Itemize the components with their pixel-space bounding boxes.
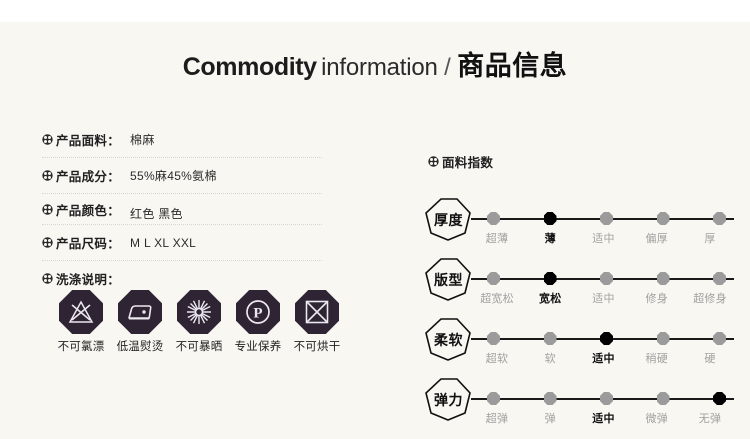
scale-option: 稍硬: [633, 350, 681, 366]
wash-item-caption: 不可氯漂: [55, 338, 107, 354]
scale-row: 柔软 超软 软 适中 稍硬 硬: [424, 314, 734, 374]
wash-item-caption: 不可暴晒: [173, 338, 225, 354]
spec-row: 产品尺码： M L XL XXL: [42, 225, 322, 261]
scale-dot[interactable]: [544, 332, 557, 345]
scale-dot[interactable]: [544, 392, 557, 405]
scale-name: 弹力: [434, 390, 463, 410]
no-tumble-dry-icon: [295, 290, 339, 334]
spec-label: 产品成分：: [56, 166, 120, 185]
scale-row: 弹力 超弹 弹 适中 微弹 无弹: [424, 374, 734, 434]
scale-dot[interactable]: [600, 212, 613, 225]
wash-item: 不可氯漂: [55, 290, 107, 354]
scale-name-badge: 柔软: [424, 317, 473, 362]
scale-dot[interactable]: [713, 272, 726, 285]
scale-labels: 超弹 弹 适中 微弹 无弹: [471, 410, 734, 426]
scale-option: 无弹: [686, 410, 734, 426]
scale-labels: 超软 软 适中 稍硬 硬: [471, 350, 734, 366]
scale-option: 超薄: [473, 230, 521, 246]
scale-option: 超宽松: [473, 290, 521, 306]
scale-option-selected: 宽松: [526, 290, 574, 306]
scale-dot[interactable]: [487, 212, 500, 225]
spec-value: M L XL XXL: [130, 236, 196, 250]
spec-label: 产品面料：: [56, 130, 120, 149]
scale-dot-selected[interactable]: [600, 332, 613, 345]
wash-item-caption: 低温熨烫: [114, 338, 166, 354]
product-spec-list: 产品面料： 棉麻 产品成分： 55%麻45%氨棉: [42, 122, 322, 261]
scale-dot[interactable]: [487, 272, 500, 285]
scale-dot[interactable]: [487, 392, 500, 405]
wash-item: 低温熨烫: [114, 290, 166, 354]
page-title-cn: 商品信息: [457, 51, 567, 81]
scale-dot[interactable]: [713, 212, 726, 225]
scale-name: 版型: [434, 270, 463, 290]
scale-dots: [471, 272, 734, 286]
scale-option: 硬: [686, 350, 734, 366]
clover-bullet-icon: [42, 204, 53, 215]
spec-label: 产品尺码：: [56, 233, 120, 252]
spec-value: 棉麻: [130, 131, 155, 148]
clover-bullet-icon: [42, 170, 53, 181]
wash-item-caption: 不可烘干: [291, 338, 343, 354]
scale-option: 厚: [686, 230, 734, 246]
spec-row: 产品面料： 棉麻: [42, 122, 322, 158]
clover-bullet-icon: [42, 273, 53, 284]
spec-row: 产品颜色： 红色 黑色: [42, 194, 322, 225]
scale-dot-selected[interactable]: [713, 392, 726, 405]
spec-value: 红色 黑色: [130, 205, 183, 224]
page-title-light: information: [321, 54, 438, 81]
low-heat-iron-icon: [118, 290, 162, 334]
scale-option: 修身: [633, 290, 681, 306]
scale-option: 偏厚: [633, 230, 681, 246]
professional-care-icon: P: [236, 290, 280, 334]
scale-dot[interactable]: [657, 392, 670, 405]
wash-item: P 专业保养: [232, 290, 284, 354]
commodity-info-panel: Commodity information / 商品信息 产品面料： 棉麻: [0, 22, 750, 439]
spec-value: 55%麻45%氨棉: [130, 167, 217, 184]
wash-item: 不可暴晒: [173, 290, 225, 354]
scale-name: 厚度: [434, 210, 463, 230]
wash-instructions-heading: 洗涤说明：: [42, 269, 120, 288]
scale-name-badge: 弹力: [424, 377, 473, 422]
scale-dot[interactable]: [657, 272, 670, 285]
scale-option: 弹: [526, 410, 574, 426]
scale-option: 微弹: [633, 410, 681, 426]
scale-dots: [471, 212, 734, 226]
scale-dot-selected[interactable]: [544, 212, 557, 225]
svg-text:P: P: [253, 305, 262, 321]
no-bleach-icon: [59, 290, 103, 334]
page-title-separator: /: [442, 54, 453, 81]
fabric-index-scales: 厚度 超薄 薄 适中 偏厚 厚: [424, 194, 734, 434]
scale-labels: 超宽松 宽松 适中 修身 超修身: [471, 290, 734, 306]
scale-labels: 超薄 薄 适中 偏厚 厚: [471, 230, 734, 246]
scale-option-selected: 适中: [580, 410, 628, 426]
wash-item-caption: 专业保养: [232, 338, 284, 354]
clover-bullet-icon: [42, 237, 53, 248]
scale-dot[interactable]: [657, 332, 670, 345]
clover-bullet-icon: [428, 156, 439, 167]
scale-dot-selected[interactable]: [544, 272, 557, 285]
spec-label: 产品颜色：: [56, 200, 120, 219]
spec-row: 产品成分： 55%麻45%氨棉: [42, 158, 322, 194]
scale-name-badge: 厚度: [424, 197, 473, 242]
clover-bullet-icon: [42, 134, 53, 145]
scale-dot[interactable]: [657, 212, 670, 225]
scale-dot[interactable]: [713, 332, 726, 345]
scale-option: 超软: [473, 350, 521, 366]
page-title: Commodity information / 商品信息: [0, 44, 750, 83]
wash-item: 不可烘干: [291, 290, 343, 354]
scale-option: 超修身: [686, 290, 734, 306]
fabric-index-label: 面料指数: [442, 152, 493, 171]
scale-row: 厚度 超薄 薄 适中 偏厚 厚: [424, 194, 734, 254]
scale-option: 适中: [580, 230, 628, 246]
scale-dot[interactable]: [487, 332, 500, 345]
scale-row: 版型 超宽松 宽松 适中 修身 超修身: [424, 254, 734, 314]
scale-option: 超弹: [473, 410, 521, 426]
scale-option-selected: 适中: [580, 350, 628, 366]
scale-name-badge: 版型: [424, 257, 473, 302]
scale-name: 柔软: [434, 330, 463, 350]
scale-dots: [471, 392, 734, 406]
wash-instructions-label: 洗涤说明：: [56, 269, 120, 288]
scale-dots: [471, 332, 734, 346]
scale-option: 适中: [580, 290, 628, 306]
fabric-index-heading: 面料指数: [428, 152, 493, 171]
scale-option-selected: 薄: [526, 230, 574, 246]
no-sun-dry-icon: [177, 290, 221, 334]
wash-instruction-icons: 不可氯漂 低温熨烫: [55, 290, 343, 354]
scale-dot[interactable]: [600, 272, 613, 285]
scale-dot[interactable]: [600, 392, 613, 405]
scale-option: 软: [526, 350, 574, 366]
page-title-bold: Commodity: [183, 53, 317, 81]
